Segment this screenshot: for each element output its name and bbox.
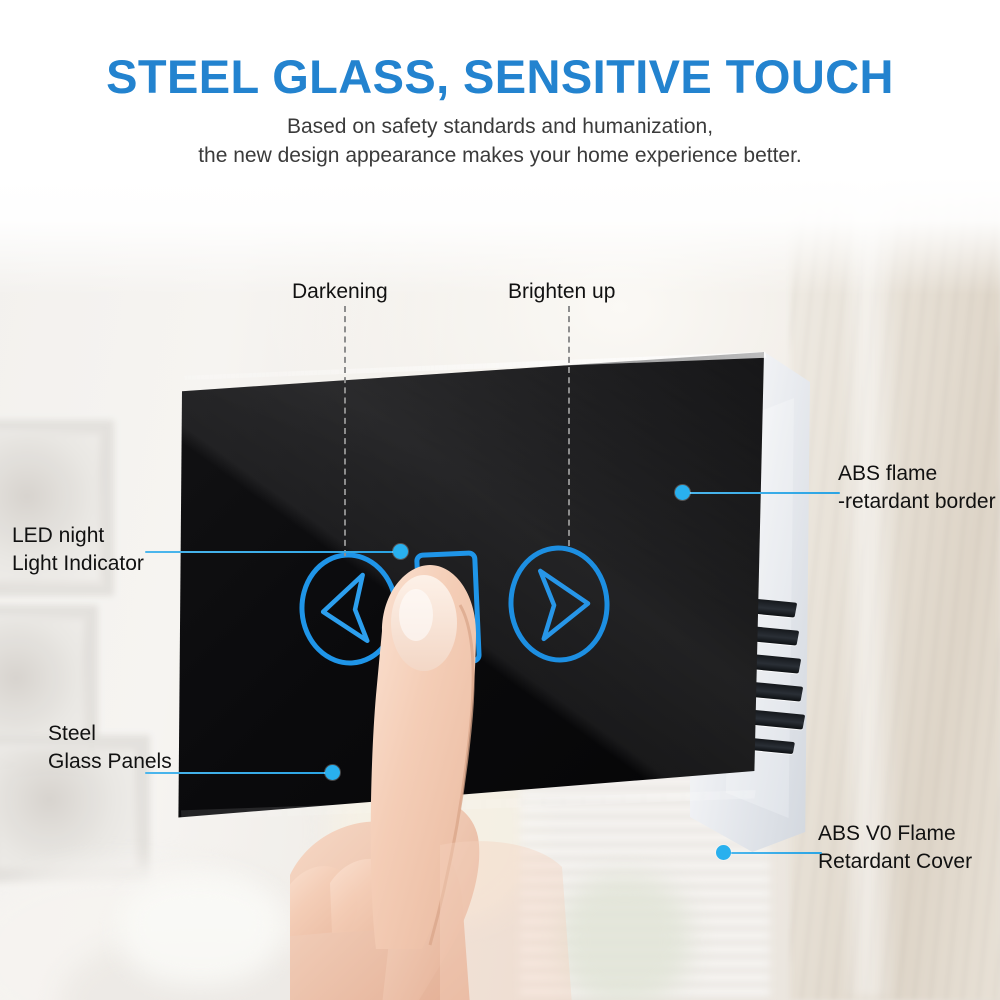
callout-brighten-up: Brighten up: [508, 278, 615, 306]
leader-line-led: [145, 551, 395, 553]
callout-abs-cover-line-1: ABS V0 Flame: [818, 820, 972, 848]
leader-line-steel: [145, 772, 327, 774]
callout-steel-line-1: Steel: [48, 720, 172, 748]
leader-dot-led: [393, 544, 408, 559]
leader-dot-abs-cover: [716, 845, 731, 860]
product-infographic: STEEL GLASS, SENSITIVE TOUCH Based on sa…: [0, 0, 1000, 1000]
leader-line-abs-cover: [730, 852, 822, 854]
callout-abs-v0-flame-retardant-cover: ABS V0 Flame Retardant Cover: [818, 820, 972, 875]
callout-darkening: Darkening: [292, 278, 388, 306]
page-title: STEEL GLASS, SENSITIVE TOUCH: [0, 0, 1000, 101]
leader-dot-abs-border: [675, 485, 690, 500]
subtitle: Based on safety standards and humanizati…: [0, 101, 1000, 170]
leader-line-brighten-up: [568, 306, 570, 546]
callout-abs-border-line-1: ABS flame: [838, 460, 996, 488]
callout-led-night-light-indicator: LED night Light Indicator: [12, 522, 144, 577]
callout-abs-flame-retardant-border: ABS flame -retardant border: [838, 460, 996, 515]
subtitle-line-2: the new design appearance makes your hom…: [0, 142, 1000, 170]
subtitle-line-1: Based on safety standards and humanizati…: [287, 115, 713, 138]
leader-line-darkening: [344, 306, 346, 556]
callout-abs-border-line-2: -retardant border: [838, 488, 996, 516]
leader-dot-steel: [325, 765, 340, 780]
callout-steel-glass-panels: Steel Glass Panels: [48, 720, 172, 775]
callout-led-line-2: Light Indicator: [12, 550, 144, 578]
callout-darkening-line-1: Darkening: [292, 278, 388, 306]
callout-brighten-up-line-1: Brighten up: [508, 278, 615, 306]
callout-led-line-1: LED night: [12, 522, 144, 550]
callout-abs-cover-line-2: Retardant Cover: [818, 848, 972, 876]
leader-line-abs-border: [688, 492, 840, 494]
header: STEEL GLASS, SENSITIVE TOUCH Based on sa…: [0, 0, 1000, 180]
